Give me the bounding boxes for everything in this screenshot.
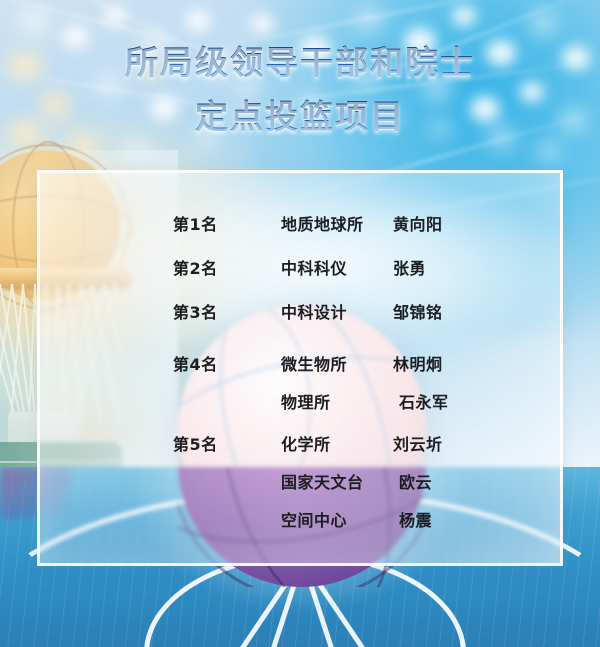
table-row: 第1名地质地球所黄向阳 xyxy=(40,211,560,249)
table-row: 空间中心杨震 xyxy=(40,507,560,545)
page-title: 所局级领导干部和院士 定点投篮项目 xyxy=(0,36,600,144)
bokeh-light-icon xyxy=(356,8,382,30)
rank-label: 第3名 xyxy=(40,299,281,323)
table-row: 物理所石永军 xyxy=(40,389,560,427)
organization-label: 物理所 xyxy=(281,389,393,413)
person-name-label: 石永军 xyxy=(393,389,449,413)
rank-label: 第2名 xyxy=(40,255,281,279)
table-row: 第5名化学所刘云圻 xyxy=(40,431,560,469)
rank-group: 第5名化学所刘云圻国家天文台欧云空间中心杨震 xyxy=(40,431,560,545)
organization-label: 空间中心 xyxy=(281,507,393,531)
table-row: 第4名微生物所林明炯 xyxy=(40,351,560,389)
rank-label: 第5名 xyxy=(40,431,281,455)
person-name-label: 黄向阳 xyxy=(393,211,443,235)
organization-label: 中科科仪 xyxy=(281,255,393,279)
rank-group: 第2名中科科仪张勇 xyxy=(40,255,560,293)
rank-group: 第1名地质地球所黄向阳 xyxy=(40,211,560,249)
person-name-label: 欧云 xyxy=(393,469,432,493)
organization-label: 化学所 xyxy=(281,431,393,455)
person-name-label: 邹锦铭 xyxy=(393,299,443,323)
bokeh-light-icon xyxy=(250,14,274,34)
poster-root: 所局级领导干部和院士 定点投篮项目 第1名地质地球所黄向阳第2名中科科仪张勇第3… xyxy=(0,0,600,647)
organization-label: 中科设计 xyxy=(281,299,393,323)
bokeh-light-icon xyxy=(104,6,126,26)
bokeh-light-icon xyxy=(538,142,560,160)
rank-label: 第1名 xyxy=(40,211,281,235)
bokeh-light-icon xyxy=(530,12,556,34)
bokeh-light-icon xyxy=(186,10,210,32)
title-line-2: 定点投篮项目 xyxy=(0,90,600,144)
person-name-label: 刘云圻 xyxy=(393,431,443,455)
person-name-label: 林明炯 xyxy=(393,351,443,375)
organization-label: 微生物所 xyxy=(281,351,393,375)
results-panel: 第1名地质地球所黄向阳第2名中科科仪张勇第3名中科设计邹锦铭第4名微生物所林明炯… xyxy=(37,170,563,566)
organization-label: 地质地球所 xyxy=(281,211,393,235)
table-row: 第2名中科科仪张勇 xyxy=(40,255,560,293)
rank-group: 第3名中科设计邹锦铭 xyxy=(40,299,560,337)
table-row: 第3名中科设计邹锦铭 xyxy=(40,299,560,337)
title-line-1: 所局级领导干部和院士 xyxy=(0,36,600,90)
results-list: 第1名地质地球所黄向阳第2名中科科仪张勇第3名中科设计邹锦铭第4名微生物所林明炯… xyxy=(40,173,560,563)
rank-label: 第4名 xyxy=(40,351,281,375)
rank-group: 第4名微生物所林明炯物理所石永军 xyxy=(40,351,560,427)
person-name-label: 张勇 xyxy=(393,255,426,279)
table-row: 国家天文台欧云 xyxy=(40,469,560,507)
organization-label: 国家天文台 xyxy=(281,469,393,493)
bokeh-light-icon xyxy=(18,8,48,34)
bokeh-light-icon xyxy=(452,6,476,26)
person-name-label: 杨震 xyxy=(393,507,432,531)
